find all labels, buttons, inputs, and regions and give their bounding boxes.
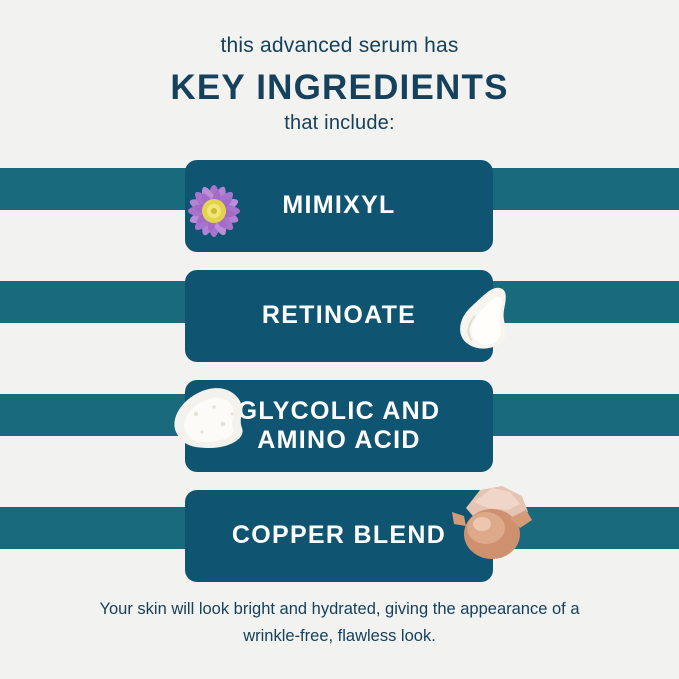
- heading-line-1: this advanced serum has: [0, 34, 679, 58]
- infographic-page: this advanced serum has KEY INGREDIENTS …: [0, 0, 679, 679]
- cream-drop-icon: [448, 278, 534, 358]
- footer-line-2: wrinkle-free, flawless look.: [60, 623, 619, 650]
- cream-swatch-icon: [168, 374, 272, 456]
- footer-line-1: Your skin will look bright and hydrated,…: [60, 596, 619, 623]
- ingredient-label: MIMIXYL: [268, 191, 409, 221]
- copper-nugget-icon: [440, 478, 540, 564]
- ingredient-label: RETINOATE: [248, 301, 430, 331]
- ingredient-label: COPPER BLEND: [218, 521, 460, 551]
- heading-line-3: that include:: [0, 112, 679, 135]
- page-title: KEY INGREDIENTS: [0, 68, 679, 108]
- flower-icon: [160, 165, 268, 257]
- ingredient-bar-retinoate: RETINOATE: [185, 270, 493, 362]
- footer-text: Your skin will look bright and hydrated,…: [60, 596, 619, 650]
